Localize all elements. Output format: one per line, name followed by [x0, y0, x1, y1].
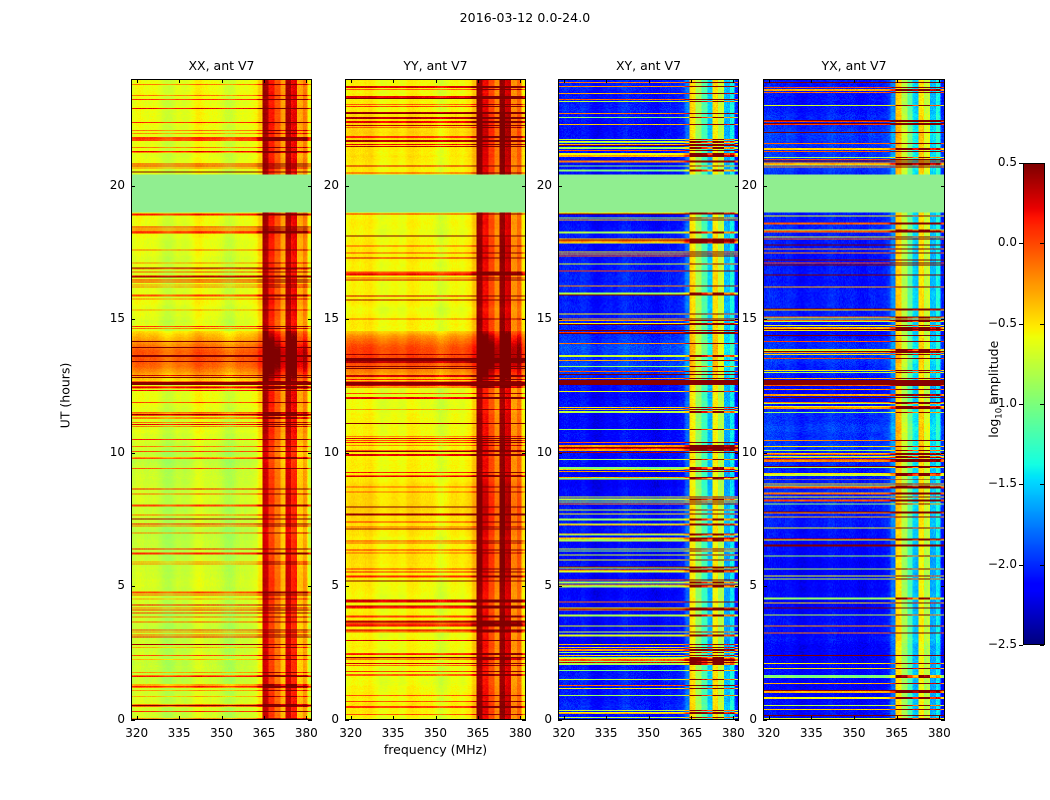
y-tick-label: 5 [91, 578, 125, 592]
x-tick [351, 716, 352, 720]
x-tick [137, 716, 138, 720]
y-tick-label: 15 [518, 311, 552, 325]
x-tick-label: 365 [671, 726, 711, 740]
x-tick-label: 320 [331, 726, 371, 740]
panel-title-yy: YY, ant V7 [345, 58, 526, 73]
x-tick [769, 79, 770, 83]
x-tick [854, 79, 855, 83]
y-tick-label: 20 [91, 178, 125, 192]
colorbar-tick [1019, 243, 1023, 244]
y-tick-label: 0 [723, 712, 757, 726]
heatmap-panel-yy[interactable] [345, 79, 526, 720]
y-tick [941, 586, 945, 587]
x-tick [811, 79, 812, 83]
x-tick-label: 350 [834, 726, 874, 740]
x-tick-label: 335 [373, 726, 413, 740]
colorbar-tick [1019, 484, 1023, 485]
colorbar-tick [1040, 484, 1044, 485]
heatmap-panel-yx[interactable] [763, 79, 945, 720]
x-tick [769, 716, 770, 720]
x-tick [436, 79, 437, 83]
x-tick [733, 79, 734, 83]
y-tick-label: 20 [518, 178, 552, 192]
colorbar-tick [1040, 404, 1044, 405]
panel-title-xx: XX, ant V7 [131, 58, 312, 73]
x-tick [264, 79, 265, 83]
x-tick-label: 380 [919, 726, 959, 740]
y-tick-label: 0 [305, 712, 339, 726]
x-tick [436, 716, 437, 720]
x-tick [478, 716, 479, 720]
x-tick [222, 716, 223, 720]
colorbar-tick [1040, 645, 1044, 646]
y-tick [558, 586, 562, 587]
x-tick-label: 365 [458, 726, 498, 740]
x-tick-label: 350 [202, 726, 242, 740]
x-tick [393, 79, 394, 83]
x-tick [222, 79, 223, 83]
y-tick [558, 186, 562, 187]
x-tick-label: 335 [791, 726, 831, 740]
y-tick [345, 453, 349, 454]
y-tick-label: 20 [305, 178, 339, 192]
x-tick [478, 79, 479, 83]
x-tick [306, 79, 307, 83]
y-tick [941, 319, 945, 320]
x-tick [179, 79, 180, 83]
y-tick [941, 186, 945, 187]
y-tick-label: 15 [723, 311, 757, 325]
x-tick-label: 350 [629, 726, 669, 740]
x-tick [564, 79, 565, 83]
panel-title-yx: YX, ant V7 [763, 58, 945, 73]
colorbar-tick [1019, 645, 1023, 646]
x-tick-label: 335 [159, 726, 199, 740]
figure-suptitle: 2016-03-12 0.0-24.0 [0, 10, 1050, 25]
colorbar-tick-label: −2.0 [981, 557, 1017, 571]
colorbar-tick [1040, 565, 1044, 566]
x-tick [691, 79, 692, 83]
x-tick-label: 365 [877, 726, 917, 740]
y-tick [763, 586, 767, 587]
y-tick [131, 453, 135, 454]
y-tick-label: 0 [518, 712, 552, 726]
x-tick-label: 365 [244, 726, 284, 740]
y-tick [763, 319, 767, 320]
x-tick [939, 79, 940, 83]
x-tick [564, 716, 565, 720]
colorbar-tick-label: 0.5 [981, 155, 1017, 169]
x-tick-label: 320 [117, 726, 157, 740]
y-tick [763, 186, 767, 187]
figure-canvas: 2016-03-12 0.0-24.0 XX, ant V7 YY, ant V… [0, 0, 1050, 800]
x-tick [649, 716, 650, 720]
x-tick [606, 79, 607, 83]
heatmap-panel-xx[interactable] [131, 79, 312, 720]
x-tick [854, 716, 855, 720]
x-tick-label: 320 [749, 726, 789, 740]
colorbar-tick [1040, 243, 1044, 244]
y-tick [345, 319, 349, 320]
colorbar-tick [1040, 163, 1044, 164]
y-tick [131, 586, 135, 587]
x-tick [351, 79, 352, 83]
panel-title-xy: XY, ant V7 [558, 58, 739, 73]
x-tick-label: 335 [586, 726, 626, 740]
x-axis-label: frequency (MHz) [345, 742, 526, 757]
y-tick-label: 10 [91, 445, 125, 459]
x-tick [897, 716, 898, 720]
colorbar-tick [1040, 324, 1044, 325]
x-tick [691, 716, 692, 720]
y-tick [763, 453, 767, 454]
y-tick-label: 5 [518, 578, 552, 592]
x-tick [811, 716, 812, 720]
y-tick [131, 319, 135, 320]
x-tick-label: 380 [286, 726, 326, 740]
y-tick-label: 15 [91, 311, 125, 325]
y-tick-label: 0 [91, 712, 125, 726]
y-tick-label: 5 [305, 578, 339, 592]
y-tick [345, 586, 349, 587]
y-tick [558, 720, 562, 721]
x-tick-label: 320 [544, 726, 584, 740]
x-tick [393, 716, 394, 720]
x-tick [264, 716, 265, 720]
y-tick [941, 453, 945, 454]
y-axis-label: UT (hours) [58, 326, 73, 466]
colorbar-tick [1019, 324, 1023, 325]
y-tick [131, 186, 135, 187]
y-tick-label: 10 [305, 445, 339, 459]
y-tick [131, 720, 135, 721]
x-tick-label: 380 [500, 726, 540, 740]
x-tick [179, 716, 180, 720]
y-tick [763, 720, 767, 721]
colorbar-tick [1019, 163, 1023, 164]
y-tick [941, 720, 945, 721]
x-tick-label: 380 [713, 726, 753, 740]
colorbar-label: log10 amplitude [986, 299, 1005, 479]
colorbar-tick-label: −2.5 [981, 637, 1017, 651]
colorbar-tick [1019, 565, 1023, 566]
x-tick [606, 716, 607, 720]
y-tick [345, 186, 349, 187]
y-tick [558, 453, 562, 454]
x-tick [520, 79, 521, 83]
x-tick [939, 716, 940, 720]
y-tick [345, 720, 349, 721]
y-tick-label: 5 [723, 578, 757, 592]
y-tick-label: 10 [723, 445, 757, 459]
y-tick-label: 20 [723, 178, 757, 192]
x-tick [137, 79, 138, 83]
y-tick-label: 15 [305, 311, 339, 325]
heatmap-panel-xy[interactable] [558, 79, 739, 720]
y-tick-label: 10 [518, 445, 552, 459]
x-tick [649, 79, 650, 83]
x-tick-label: 350 [416, 726, 456, 740]
y-tick [558, 319, 562, 320]
x-tick [897, 79, 898, 83]
colorbar-tick [1019, 404, 1023, 405]
colorbar-tick-label: 0.0 [981, 235, 1017, 249]
